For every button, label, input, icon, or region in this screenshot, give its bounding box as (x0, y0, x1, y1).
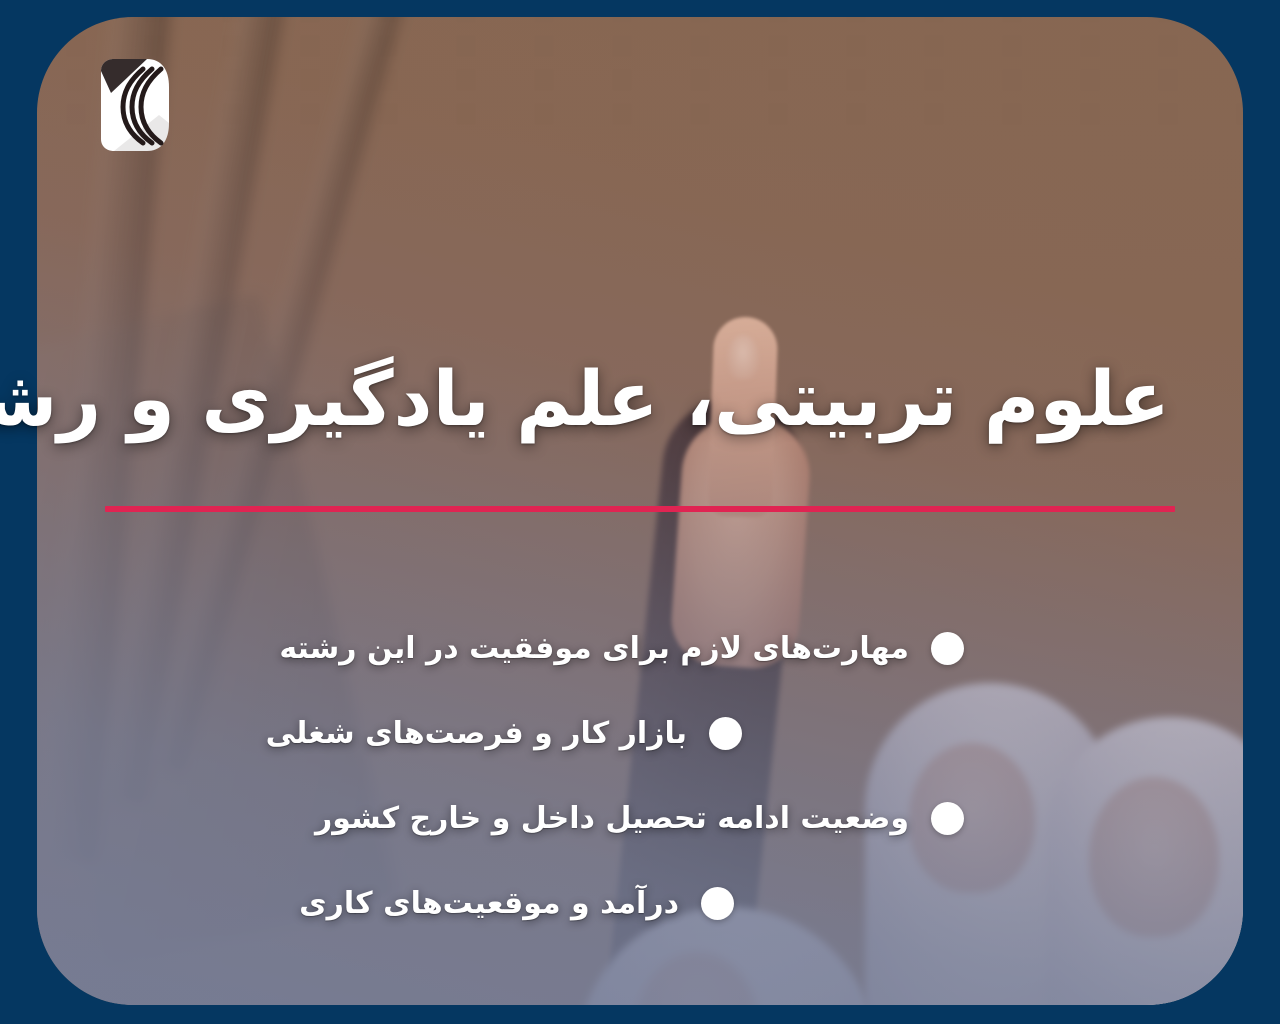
list-item-label: مهارت‌های لازم برای موفقیت در این رشته (279, 631, 909, 667)
bullet-dot-icon (701, 887, 734, 920)
list-item: مهارت‌های لازم برای موفقیت در این رشته (0, 606, 1280, 691)
poster-title: علوم تربیتی، علم یادگیری و رشد (110, 357, 1170, 441)
bullet-dot-icon (709, 717, 742, 750)
brand-logo-icon (97, 57, 173, 153)
list-item: وضعیت ادامه تحصیل داخل و خارج کشور (0, 776, 1280, 861)
list-item-label: بازار کار و فرصت‌های شغلی (266, 716, 687, 752)
bullet-dot-icon (931, 632, 964, 665)
list-item: درآمد و موقعیت‌های کاری (0, 861, 1280, 946)
poster-content: علوم تربیتی، علم یادگیری و رشد مهارت‌های… (0, 0, 1280, 1024)
title-underline-rule (105, 506, 1175, 512)
list-item-label: وضعیت ادامه تحصیل داخل و خارج کشور (315, 801, 909, 837)
bullet-dot-icon (931, 802, 964, 835)
poster-canvas: علوم تربیتی، علم یادگیری و رشد مهارت‌های… (0, 0, 1280, 1024)
list-item-label: درآمد و موقعیت‌های کاری (299, 886, 679, 922)
bullet-list: مهارت‌های لازم برای موفقیت در این رشته ب… (0, 606, 1280, 946)
list-item: بازار کار و فرصت‌های شغلی (0, 691, 1280, 776)
